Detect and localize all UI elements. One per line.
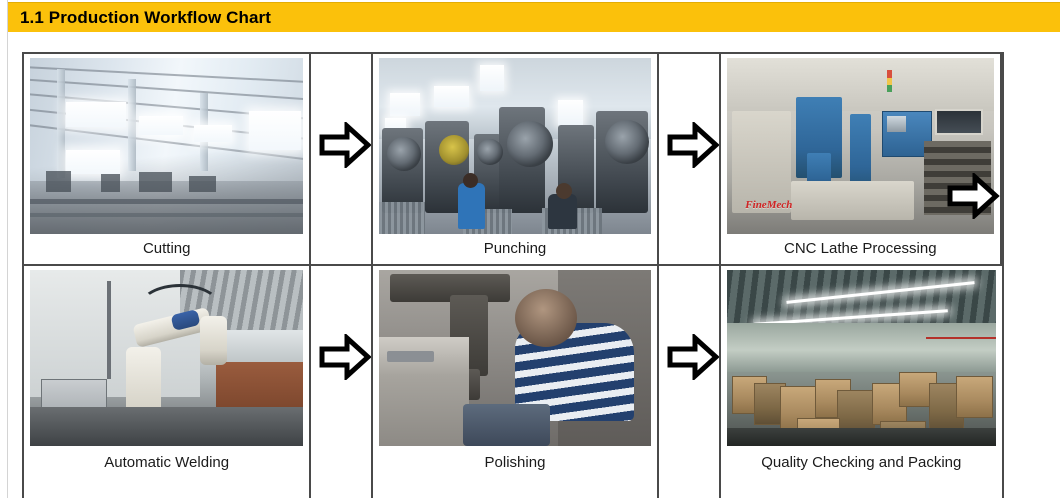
workflow-step-polishing[interactable]: Polishing — [373, 266, 658, 498]
right-block-arrow-icon — [944, 173, 1002, 219]
punching-photo — [379, 58, 650, 234]
header-divider — [8, 32, 1060, 34]
workflow-step-punching[interactable]: Punching — [373, 54, 658, 264]
right-block-arrow-icon — [319, 122, 371, 168]
workflow-table: Cutting — [22, 52, 1004, 498]
workflow-arrow-1 — [311, 54, 373, 264]
punching-photo-frame — [373, 54, 656, 236]
polishing-caption: Polishing — [373, 448, 656, 498]
right-block-arrow-icon — [319, 334, 371, 380]
workflow-row-2: Automatic Welding — [24, 266, 1002, 498]
welding-photo-frame — [24, 266, 309, 448]
packing-photo-frame — [721, 266, 1002, 448]
production-workflow-page: 1.1 Production Workflow Chart — [0, 0, 1060, 498]
workflow-arrow-5 — [659, 266, 721, 498]
cutting-caption: Cutting — [24, 236, 309, 264]
right-block-arrow-icon — [667, 334, 719, 380]
punching-caption: Punching — [373, 236, 656, 264]
page-title: 1.1 Production Workflow Chart — [8, 8, 271, 28]
workflow-step-cutting[interactable]: Cutting — [24, 54, 311, 264]
cutting-photo-frame — [24, 54, 309, 236]
welding-photo — [30, 270, 303, 446]
workflow-arrow-4 — [311, 266, 373, 498]
packing-photo — [727, 270, 996, 446]
welding-caption: Automatic Welding — [24, 448, 309, 498]
workflow-step-cnc-lathe[interactable]: FineMech CNC Lathe Processing — [721, 54, 1002, 264]
workflow-arrow-3 — [944, 170, 1006, 222]
workflow-arrow-2 — [659, 54, 721, 264]
right-block-arrow-icon — [667, 122, 719, 168]
workflow-row-1: Cutting — [24, 54, 1002, 266]
cnc-caption: CNC Lathe Processing — [721, 236, 1000, 264]
packing-caption: Quality Checking and Packing — [721, 448, 1002, 498]
polishing-photo — [379, 270, 650, 446]
workflow-step-quality-packing[interactable]: Quality Checking and Packing — [721, 266, 1002, 498]
cnc-machine-logo: FineMech — [745, 199, 792, 211]
cutting-photo — [30, 58, 303, 234]
polishing-photo-frame — [373, 266, 656, 448]
section-header-bar: 1.1 Production Workflow Chart — [8, 2, 1060, 32]
page-left-margin-rule — [7, 0, 8, 498]
workflow-step-automatic-welding[interactable]: Automatic Welding — [24, 266, 311, 498]
